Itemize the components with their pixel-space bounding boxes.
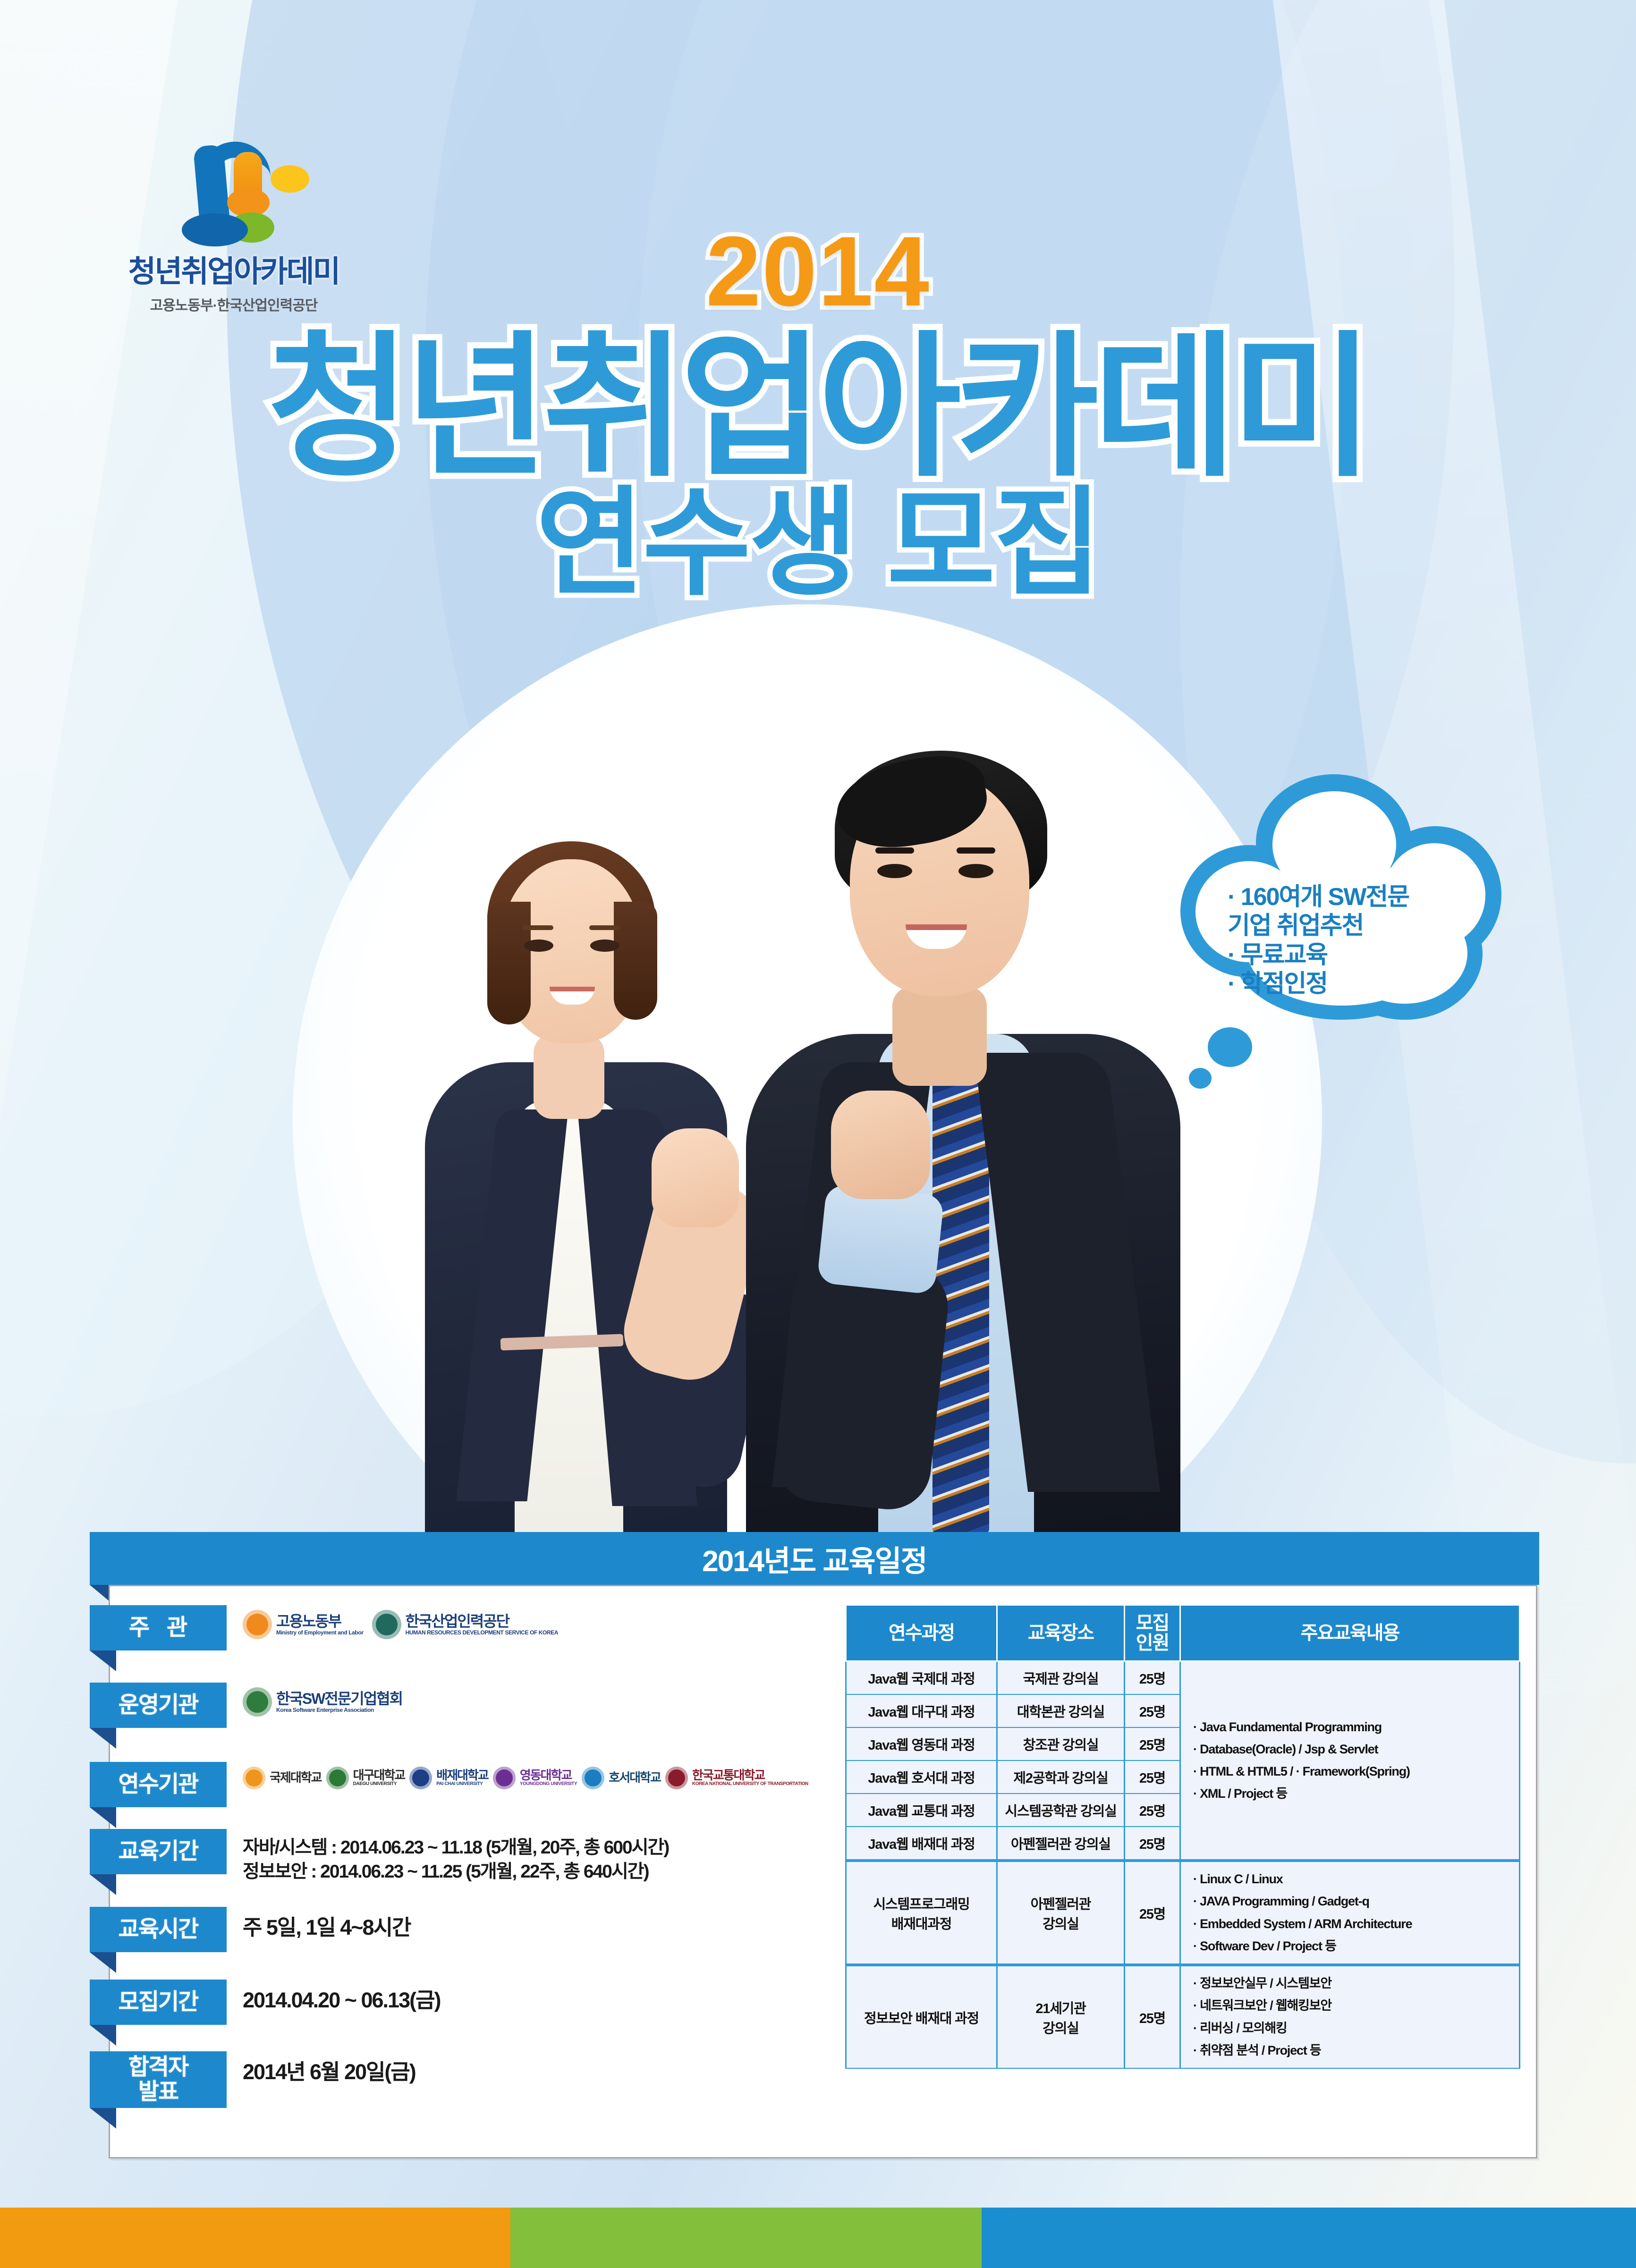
- schedule-cell: 25명: [1125, 1794, 1180, 1827]
- info-row: 합격자발표2014년 6월 20일(금): [90, 2051, 826, 2108]
- info-row-label: 연수기관: [90, 1762, 227, 1807]
- schedule-column-header: 모집인원: [1125, 1605, 1180, 1661]
- info-row-logos: 한국SW전문기업협회Korea Software Enterprise Asso…: [227, 1683, 402, 1717]
- schedule-cell: 25명: [1125, 1661, 1180, 1695]
- paichai-university-logo-name: 배재대학교: [436, 1769, 488, 1782]
- schedule-cell: 시스템프로그래밍배재대과정: [846, 1861, 997, 1965]
- hero-photo: [359, 703, 1284, 1549]
- info-row-label: 모집기간: [90, 1980, 227, 2025]
- daegu-university-logo-name-en: DAEGU UNIVERSITY: [353, 1782, 405, 1787]
- label-fold-shadow: [90, 2108, 116, 2129]
- info-row: 운영기관한국SW전문기업협회Korea Software Enterprise …: [90, 1683, 826, 1728]
- youngdong-university-logo-icon: [493, 1767, 516, 1789]
- label-fold-shadow: [90, 1807, 116, 1828]
- paichai-university-logo: 배재대학교PAI CHAI UNIVERSITY: [409, 1767, 488, 1789]
- footer-color-strip: [0, 2208, 1636, 2268]
- moel-logo-name-en: Ministry of Employment and Labor: [276, 1630, 364, 1636]
- schedule-table-header-row: 연수과정교육장소모집인원주요교육내용: [846, 1605, 1520, 1661]
- info-row-label: 합격자발표: [90, 2051, 227, 2108]
- hoseo-university-logo: 호서대학교: [582, 1767, 661, 1789]
- kookje-university-logo-name: 국제대학교: [270, 1771, 322, 1784]
- daegu-university-logo-icon: [326, 1767, 349, 1789]
- schedule-cell: 25명: [1125, 1861, 1180, 1965]
- poster-canvas: 청년취업아카데미 고용노동부·한국산업인력공단 2014 청년취업아카데미 연수…: [0, 0, 1636, 2268]
- kosea-logo-icon: [243, 1687, 272, 1717]
- table-row: 정보보안 배재대 과정21세기관강의실25명· 정보보안실무 / 시스템보안· …: [846, 1965, 1520, 2068]
- thought-bubble-dot-large: [1208, 1027, 1252, 1067]
- kosea-logo-name: 한국SW전문기업협회: [276, 1691, 402, 1707]
- daegu-university-logo: 대구대학교DAEGU UNIVERSITY: [326, 1767, 405, 1789]
- schedule-cell: 대학본관 강의실: [997, 1694, 1125, 1727]
- schedule-cell: Java웹 영동대 과정: [846, 1727, 997, 1760]
- knut-logo-icon: [665, 1767, 688, 1789]
- schedule-cell: Java웹 호서대 과정: [846, 1760, 997, 1794]
- schedule-column-header: 교육장소: [997, 1605, 1125, 1661]
- paichai-university-logo-icon: [409, 1767, 432, 1789]
- moel-logo-icon: [243, 1610, 272, 1639]
- hrdkorea-logo-icon: [372, 1610, 401, 1639]
- schedule-cell: 정보보안 배재대 과정: [846, 1965, 997, 2068]
- thought-bubble-text: · 160여개 SW전문기업 취업추천· 무료교육· 학점인정: [1228, 883, 1473, 999]
- info-row-value: 2014년 6월 20일(금): [227, 2051, 826, 2086]
- schedule-table-wrap: 연수과정교육장소모집인원주요교육내용 Java웹 국제대 과정국제관 강의실25…: [845, 1604, 1520, 2069]
- info-row-logos: 국제대학교대구대학교DAEGU UNIVERSITY배재대학교PAI CHAI …: [227, 1762, 808, 1789]
- kookje-university-logo: 국제대학교: [243, 1767, 322, 1789]
- knut-logo-name-en: KOREA NATIONAL UNIVERSITY OF TRANSPORTAT…: [692, 1782, 808, 1787]
- paichai-university-logo-name-en: PAI CHAI UNIVERSITY: [436, 1782, 488, 1787]
- schedule-cell: 아펜젤러관강의실: [997, 1861, 1125, 1965]
- footer-strip-orange: [0, 2208, 510, 2268]
- table-row: Java웹 국제대 과정국제관 강의실25명· Java Fundamental…: [846, 1661, 1520, 1695]
- schedule-cell: 25명: [1125, 1694, 1180, 1727]
- info-row-label: 주관: [90, 1605, 227, 1650]
- headline-sub: 연수생 모집: [0, 478, 1636, 608]
- hrdkorea-logo: 한국산업인력공단HUMAN RESOURCES DEVELOPMENT SERV…: [372, 1610, 559, 1639]
- schedule-cell: · Java Fundamental Programming· Database…: [1180, 1661, 1520, 1861]
- schedule-cell: Java웹 국제대 과정: [846, 1661, 997, 1695]
- info-row-label: 운영기관: [90, 1683, 227, 1728]
- kookje-university-logo-icon: [243, 1767, 265, 1789]
- info-row: 모집기간2014.04.20 ~ 06.13(금): [90, 1980, 826, 2025]
- daegu-university-logo-name: 대구대학교: [353, 1769, 405, 1782]
- label-fold-shadow: [90, 1650, 116, 1671]
- schedule-cell: 25명: [1125, 1965, 1180, 2068]
- headline-year: 2014: [0, 222, 1636, 321]
- schedule-cell: 25명: [1125, 1727, 1180, 1760]
- headline-block: 2014 청년취업아카데미 연수생 모집: [0, 222, 1636, 608]
- label-fold-shadow: [90, 1874, 116, 1895]
- schedule-cell: · 정보보안실무 / 시스템보안· 네트워크보안 / 웹해킹보안· 리버싱 / …: [1180, 1965, 1520, 2068]
- info-row-logos: 고용노동부Ministry of Employment and Labor한국산…: [227, 1605, 558, 1639]
- hrdkorea-logo-name-en: HUMAN RESOURCES DEVELOPMENT SERVICE OF K…: [406, 1630, 559, 1636]
- schedule-cell: 국제관 강의실: [997, 1661, 1125, 1695]
- schedule-cell: 시스템공학관 강의실: [997, 1794, 1125, 1827]
- schedule-cell: Java웹 대구대 과정: [846, 1694, 997, 1727]
- footer-strip-green: [510, 2208, 982, 2268]
- label-fold-shadow: [90, 1728, 116, 1749]
- youngdong-university-logo-name-en: YOUNGDONG UNIVERSITY: [520, 1782, 577, 1787]
- schedule-cell: 25명: [1125, 1827, 1180, 1861]
- headline-main: 청년취업아카데미: [0, 326, 1636, 490]
- schedule-cell: 21세기관강의실: [997, 1965, 1125, 2068]
- schedule-column-header: 주요교육내용: [1180, 1605, 1520, 1661]
- schedule-column-header: 연수과정: [846, 1605, 997, 1661]
- schedule-cell: 아펜젤러관 강의실: [997, 1827, 1125, 1861]
- hoseo-university-logo-icon: [582, 1767, 604, 1789]
- schedule-cell: Java웹 배재대 과정: [846, 1827, 997, 1861]
- info-row-value: 자바/시스템 : 2014.06.23 ~ 11.18 (5개월, 20주, 총…: [227, 1829, 826, 1884]
- label-fold-shadow: [90, 2025, 116, 2046]
- hoseo-university-logo-name: 호서대학교: [609, 1771, 661, 1784]
- info-list: 주관고용노동부Ministry of Employment and Labor한…: [90, 1605, 826, 2134]
- schedule-table-body: Java웹 국제대 과정국제관 강의실25명· Java Fundamental…: [846, 1661, 1520, 2069]
- schedule-cell: 25명: [1125, 1760, 1180, 1794]
- label-fold-shadow: [90, 1952, 116, 1973]
- info-row: 교육기간자바/시스템 : 2014.06.23 ~ 11.18 (5개월, 20…: [90, 1829, 826, 1884]
- youngdong-university-logo: 영동대학교YOUNGDONG UNIVERSITY: [493, 1767, 577, 1789]
- kosea-logo-name-en: Korea Software Enterprise Association: [276, 1707, 402, 1713]
- thought-bubble-dot-small: [1189, 1068, 1212, 1089]
- hrdkorea-logo-name: 한국산업인력공단: [406, 1614, 559, 1630]
- thought-bubble: · 160여개 SW전문기업 취업추천· 무료교육· 학점인정: [1166, 774, 1506, 1076]
- footer-strip-blue: [982, 2208, 1636, 2268]
- info-row: 교육시간주 5일, 1일 4~8시간: [90, 1907, 826, 1952]
- table-row: 시스템프로그래밍배재대과정아펜젤러관강의실25명· Linux C / Linu…: [846, 1861, 1520, 1965]
- info-row-label: 교육시간: [90, 1907, 227, 1952]
- schedule-cell: Java웹 교통대 과정: [846, 1794, 997, 1827]
- moel-logo-name: 고용노동부: [276, 1614, 364, 1630]
- info-row-value: 2014.04.20 ~ 06.13(금): [227, 1980, 826, 2014]
- kosea-logo: 한국SW전문기업협회Korea Software Enterprise Asso…: [243, 1687, 402, 1717]
- schedule-cell: · Linux C / Linux· JAVA Programming / Ga…: [1180, 1861, 1520, 1965]
- moel-logo: 고용노동부Ministry of Employment and Labor: [243, 1610, 364, 1639]
- youngdong-university-logo-name: 영동대학교: [520, 1769, 577, 1782]
- schedule-cell: 창조관 강의실: [997, 1727, 1125, 1760]
- schedule-banner-title: 2014년도 교육일정: [702, 1537, 926, 1580]
- knut-logo-name: 한국교통대학교: [692, 1769, 808, 1782]
- info-row: 연수기관국제대학교대구대학교DAEGU UNIVERSITY배재대학교PAI C…: [90, 1762, 826, 1807]
- info-row: 주관고용노동부Ministry of Employment and Labor한…: [90, 1605, 826, 1650]
- info-row-label: 교육기간: [90, 1829, 227, 1874]
- schedule-cell: 제2공학과 강의실: [997, 1760, 1125, 1794]
- schedule-table: 연수과정교육장소모집인원주요교육내용 Java웹 국제대 과정국제관 강의실25…: [845, 1604, 1520, 2069]
- schedule-banner: 2014년도 교육일정: [90, 1532, 1539, 1585]
- knut-logo: 한국교통대학교KOREA NATIONAL UNIVERSITY OF TRAN…: [665, 1767, 808, 1789]
- info-row-value: 주 5일, 1일 4~8시간: [227, 1907, 826, 1941]
